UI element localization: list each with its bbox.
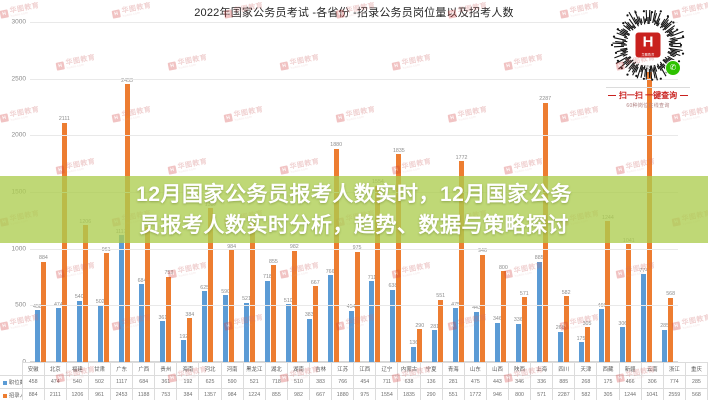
bar-招录人数: 305 xyxy=(585,327,590,362)
bar-招录人数: 753 xyxy=(166,277,171,362)
qr-caption-row: 扫一扫 一键查询 xyxy=(596,90,700,101)
province-name-cell: 湖北 xyxy=(265,363,287,376)
bar-职位数: 454 xyxy=(349,311,354,362)
y-axis-tick-label: 1000 xyxy=(12,245,26,252)
data-cell: 510 xyxy=(287,376,309,389)
data-cell: 443 xyxy=(486,376,508,389)
bar-职位数: 306 xyxy=(620,327,625,362)
data-cell: 475 xyxy=(464,376,486,389)
bar-招录人数: 551 xyxy=(438,300,443,362)
dash-right-icon xyxy=(680,95,688,96)
data-cell: 885 xyxy=(553,376,575,389)
data-cell: 305 xyxy=(597,389,619,400)
bar-value-label: 582 xyxy=(562,290,571,296)
province-name-cell: 海南 xyxy=(177,363,199,376)
bar-value-label: 551 xyxy=(436,293,445,299)
bar-value-label: 1835 xyxy=(393,148,405,154)
logo-letter: H xyxy=(643,34,654,51)
data-cell: 361 xyxy=(155,376,177,389)
bar-招录人数: 1224 xyxy=(250,223,255,362)
data-cell: 590 xyxy=(221,376,243,389)
province-name-cell: 广西 xyxy=(133,363,155,376)
table-row-header: 安徽北京福建甘肃广东广西贵州海南河北河南黑龙江湖北湖南吉林江苏江西辽宁内蒙古宁夏… xyxy=(0,363,708,376)
data-cell: 383 xyxy=(310,376,332,389)
data-cell: 1188 xyxy=(133,389,155,400)
data-cell: 540 xyxy=(66,376,88,389)
bar-value-label: 571 xyxy=(520,291,529,297)
data-cell: 568 xyxy=(685,389,707,400)
watermark-subtext: huatu.com xyxy=(683,113,708,122)
headline-overlay-banner: 12月国家公务员报考人数实时，12月国家公务 员报考人数实时分析，趋势、数据与策… xyxy=(0,176,708,243)
data-cell: 961 xyxy=(88,389,110,400)
data-cell: 346 xyxy=(509,376,531,389)
bar-value-label: 290 xyxy=(415,323,424,329)
data-cell: 753 xyxy=(155,389,177,400)
bar-职位数: 268 xyxy=(558,332,563,362)
bar-职位数: 336 xyxy=(516,324,521,362)
y-axis-tick-label: 2000 xyxy=(12,132,26,139)
province-name-cell: 宁夏 xyxy=(420,363,442,376)
bar-职位数: 443 xyxy=(474,312,479,362)
bar-职位数: 638 xyxy=(390,290,395,362)
bar-value-label: 384 xyxy=(185,312,194,318)
qr-code-image[interactable]: H 华图教育 ✆ xyxy=(609,6,687,84)
table-row: 职位数4584745405021117684361192625590521718… xyxy=(0,376,708,389)
province-name-cell: 河北 xyxy=(199,363,221,376)
data-cell: 454 xyxy=(354,376,376,389)
table-row: 招录人数884211112069612453118875338413579841… xyxy=(0,389,708,400)
data-cell: 1835 xyxy=(398,389,420,400)
data-cell: 625 xyxy=(199,376,221,389)
data-cell: 2559 xyxy=(663,389,685,400)
bar-职位数: 285 xyxy=(662,330,667,362)
data-cell: 1117 xyxy=(111,376,133,389)
data-cell: 175 xyxy=(597,376,619,389)
y-axis-tick-label: 500 xyxy=(15,302,26,309)
bar-招录人数: 975 xyxy=(355,252,360,363)
data-cell: 711 xyxy=(376,376,398,389)
province-name-cell: 江西 xyxy=(354,363,376,376)
data-cell: 718 xyxy=(265,376,287,389)
data-cell: 982 xyxy=(287,389,309,400)
bar-招录人数: 571 xyxy=(522,297,527,362)
qr-sub-caption: 60种岗位在线查询 xyxy=(596,102,700,109)
province-name-cell: 青海 xyxy=(442,363,464,376)
legend-label: 职位数 xyxy=(9,380,22,386)
bar-招录人数: 384 xyxy=(187,318,192,362)
province-name-cell: 上海 xyxy=(531,363,553,376)
watermark-text: 华图教育 xyxy=(681,314,708,327)
y-axis-tick-label: 2500 xyxy=(12,75,26,82)
data-cell: 1772 xyxy=(464,389,486,400)
headline-text: 12月国家公务员报考人数实时，12月国家公务 员报考人数实时分析，趋势、数据与策… xyxy=(9,179,699,241)
data-cell: 638 xyxy=(398,376,420,389)
bar-职位数: 718 xyxy=(265,281,270,362)
province-name-cell: 黑龙江 xyxy=(243,363,265,376)
huatu-logo-icon: H 华图教育 xyxy=(636,33,661,58)
bar-value-label: 2111 xyxy=(59,116,70,122)
bar-value-label: 884 xyxy=(39,255,48,261)
data-cell: 458 xyxy=(22,376,44,389)
bar-招录人数: 800 xyxy=(501,271,506,362)
dash-left-icon xyxy=(608,95,616,96)
province-name-cell: 天津 xyxy=(575,363,597,376)
data-cell: 1880 xyxy=(332,389,354,400)
data-cell: 1206 xyxy=(66,389,88,400)
bar-value-label: 855 xyxy=(269,259,278,265)
bar-职位数: 192 xyxy=(181,340,186,362)
province-name-cell: 甘肃 xyxy=(88,363,110,376)
data-cell: 684 xyxy=(133,376,155,389)
province-name-cell: 福建 xyxy=(66,363,88,376)
grid-line xyxy=(30,79,678,80)
legend-swatch-icon xyxy=(3,381,7,385)
bar-职位数: 540 xyxy=(77,301,82,362)
data-cell: 521 xyxy=(243,376,265,389)
grid-line xyxy=(30,135,678,136)
province-name-cell: 浙江 xyxy=(663,363,685,376)
bar-招录人数: 982 xyxy=(292,251,297,362)
data-cell: 946 xyxy=(486,389,508,400)
bar-职位数: 475 xyxy=(453,308,458,362)
province-name-cell: 吉林 xyxy=(310,363,332,376)
data-cell: 2111 xyxy=(44,389,66,400)
province-name-cell: 辽宁 xyxy=(376,363,398,376)
data-cell: 1244 xyxy=(619,389,641,400)
data-cell: 502 xyxy=(88,376,110,389)
data-cell: 290 xyxy=(420,389,442,400)
province-name-cell: 广东 xyxy=(111,363,133,376)
data-cell: 136 xyxy=(420,376,442,389)
bar-职位数: 502 xyxy=(98,305,103,362)
bar-职位数: 684 xyxy=(139,284,144,362)
data-cell: 192 xyxy=(177,376,199,389)
data-cell: 667 xyxy=(310,389,332,400)
province-name-cell: 四川 xyxy=(553,363,575,376)
bar-value-label: 800 xyxy=(499,265,508,271)
bar-value-label: 305 xyxy=(583,321,592,327)
data-cell: 306 xyxy=(641,376,663,389)
data-cell: 774 xyxy=(663,376,685,389)
headline-line-1: 12月国家公务员报考人数实时，12月国家公务 xyxy=(9,179,699,210)
bar-招录人数: 946 xyxy=(480,255,485,362)
bar-职位数: 361 xyxy=(160,321,165,362)
headline-line-2: 员报考人数实时分析，趋势、数据与策略探讨 xyxy=(9,210,699,241)
data-cell: 1554 xyxy=(376,389,398,400)
data-cell: 884 xyxy=(22,389,44,400)
legend-label: 招录人数 xyxy=(9,393,22,399)
screenshot-root: 2022年国家公务员考试 -各省份 -招录公务员岗位量以及招考人数 458884… xyxy=(0,0,708,400)
province-name-cell: 江苏 xyxy=(332,363,354,376)
data-cell: 582 xyxy=(575,389,597,400)
logo-subtext: 华图教育 xyxy=(636,53,661,57)
data-cell: 336 xyxy=(531,376,553,389)
data-cell: 800 xyxy=(509,389,531,400)
province-name-cell: 贵州 xyxy=(155,363,177,376)
data-cell: 551 xyxy=(442,389,464,400)
data-cell: 1224 xyxy=(243,389,265,400)
data-cell: 1357 xyxy=(199,389,221,400)
bar-职位数: 346 xyxy=(495,323,500,362)
qr-divider xyxy=(606,87,690,88)
province-name-cell: 云南 xyxy=(641,363,663,376)
province-name-cell: 陕西 xyxy=(509,363,531,376)
data-cell: 466 xyxy=(619,376,641,389)
bar-职位数: 1117 xyxy=(119,235,124,362)
data-cell: 2453 xyxy=(111,389,133,400)
wechat-icon: ✆ xyxy=(665,60,681,76)
data-cell: 384 xyxy=(177,389,199,400)
chart-data-table: 安徽北京福建甘肃广东广西贵州海南河北河南黑龙江湖北湖南吉林江苏江西辽宁内蒙古宁夏… xyxy=(0,362,708,400)
data-cell: 268 xyxy=(575,376,597,389)
bar-职位数: 474 xyxy=(56,308,61,362)
province-name-cell: 北京 xyxy=(44,363,66,376)
qr-caption: 扫一扫 一键查询 xyxy=(619,90,677,101)
data-cell: 474 xyxy=(44,376,66,389)
data-table: 安徽北京福建甘肃广东广西贵州海南河北河南黑龙江湖北湖南吉林江苏江西辽宁内蒙古宁夏… xyxy=(0,362,708,400)
bar-value-label: 2287 xyxy=(539,96,551,102)
bar-职位数: 521 xyxy=(244,303,249,362)
province-name-cell: 河南 xyxy=(221,363,243,376)
bar-职位数: 885 xyxy=(537,262,542,362)
bar-职位数: 766 xyxy=(328,275,333,362)
bar-职位数: 711 xyxy=(369,281,374,362)
bar-招录人数: 1041 xyxy=(626,244,631,362)
province-name-cell: 新疆 xyxy=(619,363,641,376)
legend-swatch-icon xyxy=(3,394,7,398)
province-name-cell: 内蒙古 xyxy=(398,363,420,376)
data-cell: 571 xyxy=(531,389,553,400)
bar-value-label: 1772 xyxy=(456,155,468,161)
grid-line xyxy=(30,305,678,306)
bar-招录人数: 855 xyxy=(271,265,276,362)
bar-招录人数: 1206 xyxy=(83,225,88,362)
bar-职位数: 466 xyxy=(599,309,604,362)
bar-职位数: 175 xyxy=(579,342,584,362)
legend-cell-职位数: 职位数 xyxy=(0,376,22,389)
data-cell: 281 xyxy=(442,376,464,389)
bar-招录人数: 884 xyxy=(41,262,46,362)
province-name-cell: 山东 xyxy=(464,363,486,376)
bar-职位数: 774 xyxy=(641,274,646,362)
province-name-cell: 西藏 xyxy=(597,363,619,376)
bar-招录人数: 1188 xyxy=(145,227,150,362)
qr-code-block[interactable]: H 华图教育 ✆ 扫一扫 一键查询 60种岗位在线查询 xyxy=(596,6,700,109)
grid-line xyxy=(30,249,678,250)
bar-职位数: 136 xyxy=(411,347,416,362)
data-cell: 2287 xyxy=(553,389,575,400)
table-corner-cell xyxy=(0,363,22,376)
grid-line xyxy=(30,22,678,23)
data-cell: 855 xyxy=(265,389,287,400)
watermark-subtext: huatu.com xyxy=(683,321,708,330)
legend-cell-招录人数: 招录人数 xyxy=(0,389,22,400)
watermark-badge-icon: H xyxy=(0,321,9,330)
bar-value-label: 568 xyxy=(666,291,675,297)
bar-招录人数: 568 xyxy=(668,298,673,362)
province-name-cell: 重庆 xyxy=(685,363,707,376)
province-name-cell: 湖南 xyxy=(287,363,309,376)
bar-职位数: 383 xyxy=(307,319,312,362)
data-cell: 766 xyxy=(332,376,354,389)
data-cell: 984 xyxy=(221,389,243,400)
bar-value-label: 667 xyxy=(311,280,320,286)
bar-职位数: 625 xyxy=(202,291,207,362)
bar-职位数: 281 xyxy=(432,330,437,362)
bar-value-label: 753 xyxy=(164,270,173,276)
bar-招录人数: 667 xyxy=(313,286,318,362)
watermark-badge-icon: H xyxy=(0,113,9,122)
bar-招录人数: 290 xyxy=(417,329,422,362)
province-name-cell: 山西 xyxy=(486,363,508,376)
bar-职位数: 458 xyxy=(35,310,40,362)
data-cell: 285 xyxy=(685,376,707,389)
data-cell: 1041 xyxy=(641,389,663,400)
data-cell: 975 xyxy=(354,389,376,400)
bar-招录人数: 961 xyxy=(104,253,109,362)
bar-value-label: 1880 xyxy=(330,142,342,148)
province-name-cell: 安徽 xyxy=(22,363,44,376)
bar-职位数: 510 xyxy=(286,304,291,362)
